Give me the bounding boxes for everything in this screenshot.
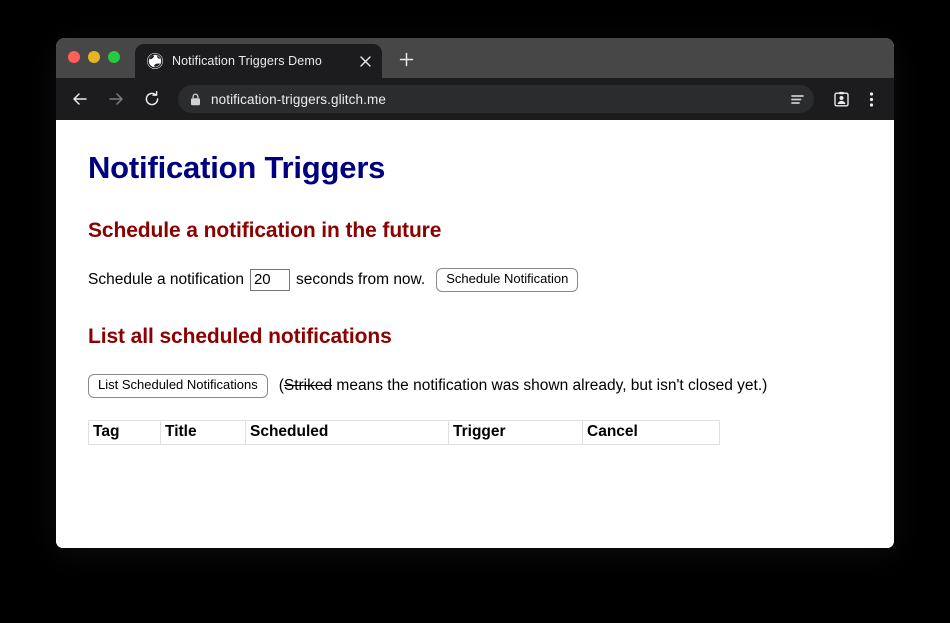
browser-window: Notification Triggers Demo — [56, 38, 894, 548]
column-header-tag[interactable]: Tag — [89, 420, 161, 444]
table-head: Tag Title Scheduled Trigger Cancel — [89, 420, 720, 444]
schedule-form-row: Schedule a notification seconds from now… — [88, 268, 862, 292]
screenshot-root: Notification Triggers Demo — [0, 0, 950, 623]
schedule-notification-button[interactable]: Schedule Notification — [436, 268, 578, 292]
window-controls — [68, 51, 120, 63]
tab-strip: Notification Triggers Demo — [56, 38, 894, 78]
arrow-left-icon[interactable] — [66, 85, 94, 113]
page-content: Notification Triggers Schedule a notific… — [56, 120, 894, 445]
profile-icon[interactable] — [828, 86, 854, 112]
plus-icon[interactable] — [393, 46, 419, 72]
table-header-row: Tag Title Scheduled Trigger Cancel — [89, 420, 720, 444]
schedule-label-before: Schedule a notification — [88, 272, 244, 288]
page-viewport: Notification Triggers Schedule a notific… — [56, 120, 894, 548]
scheduled-notifications-table: Tag Title Scheduled Trigger Cancel — [88, 420, 720, 445]
schedule-label-after: seconds from now. — [296, 272, 425, 288]
list-scheduled-notifications-button[interactable]: List Scheduled Notifications — [88, 374, 268, 398]
column-header-scheduled[interactable]: Scheduled — [246, 420, 449, 444]
column-header-cancel[interactable]: Cancel — [583, 420, 720, 444]
lock-icon — [190, 93, 201, 106]
column-header-title[interactable]: Title — [161, 420, 246, 444]
close-window-button[interactable] — [68, 51, 80, 63]
schedule-section-heading: Schedule a notification in the future — [88, 219, 862, 243]
maximize-window-button[interactable] — [108, 51, 120, 63]
tab-title: Notification Triggers Demo — [172, 54, 355, 68]
legend-text: (Striked means the notification was show… — [279, 377, 768, 395]
list-controls-row: List Scheduled Notifications (Striked me… — [88, 374, 862, 398]
reload-icon[interactable] — [138, 85, 166, 113]
browser-toolbar: notification-triggers.glitch.me — [56, 78, 894, 120]
column-header-trigger[interactable]: Trigger — [449, 420, 583, 444]
address-bar-url: notification-triggers.glitch.me — [211, 92, 786, 107]
minimize-window-button[interactable] — [88, 51, 100, 63]
legend-striked-word: Striked — [284, 377, 332, 394]
tab-notification-triggers-demo[interactable]: Notification Triggers Demo — [135, 44, 382, 78]
seconds-input[interactable] — [250, 269, 290, 291]
globe-icon — [147, 53, 163, 69]
list-section-heading: List all scheduled notifications — [88, 325, 862, 349]
page-title: Notification Triggers — [88, 150, 862, 186]
reading-list-icon[interactable] — [786, 88, 808, 110]
legend-rest: means the notification was shown already… — [332, 377, 767, 394]
address-bar[interactable]: notification-triggers.glitch.me — [178, 85, 814, 113]
more-menu-icon[interactable] — [858, 86, 884, 112]
close-icon[interactable] — [355, 51, 375, 71]
arrow-right-icon — [102, 85, 130, 113]
